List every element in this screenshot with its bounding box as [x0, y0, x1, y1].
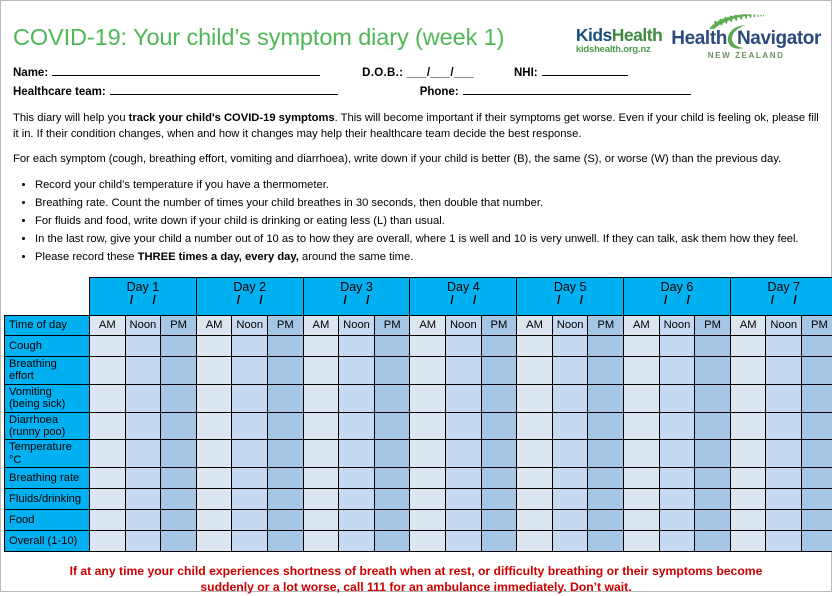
slot-header-am: AM [517, 315, 553, 335]
diary-cell-d6-am-r0[interactable] [624, 335, 660, 356]
diary-cell-d4-pm-r7[interactable] [481, 510, 517, 531]
diary-cell-d7-pm-r4[interactable] [802, 440, 832, 468]
diary-cell-d7-am-r2[interactable] [730, 384, 766, 412]
diary-cell-d6-noon-r0[interactable] [659, 335, 695, 356]
bullet5-pre: Please record these [35, 251, 138, 263]
day-label: Day 3 [304, 280, 410, 294]
list-item: Breathing rate. Count the number of time… [35, 195, 819, 212]
diary-cell-d2-pm-r8[interactable] [268, 531, 304, 552]
table-row: Overall (1-10) [5, 531, 832, 552]
diary-cell-d5-pm-r2[interactable] [588, 384, 624, 412]
day-header-5: Day 5 / / [517, 277, 624, 315]
slot-header-pm: PM [374, 315, 410, 335]
diary-cell-d7-noon-r2[interactable] [766, 384, 802, 412]
diary-cell-d5-noon-r1[interactable] [552, 356, 588, 384]
diary-cell-d2-am-r3[interactable] [196, 412, 232, 440]
diary-cell-d5-pm-r4[interactable] [588, 440, 624, 468]
diary-cell-d6-pm-r7[interactable] [695, 510, 731, 531]
row-label-sub: °C [9, 454, 89, 466]
diary-cell-d7-am-r6[interactable] [730, 489, 766, 510]
diary-cell-d2-noon-r7[interactable] [232, 510, 268, 531]
diary-cell-d7-am-r4[interactable] [730, 440, 766, 468]
diary-cell-d2-pm-r2[interactable] [268, 384, 304, 412]
row-label-4: Temperature°C [5, 440, 90, 468]
diary-cell-d7-pm-r8[interactable] [802, 531, 832, 552]
slot-header-am: AM [303, 315, 339, 335]
intro-paragraph-2: For each symptom (cough, breathing effor… [13, 152, 819, 168]
emergency-warning-line1: If at any time your child experiences sh… [45, 564, 787, 580]
day-date-input[interactable]: / / [731, 294, 832, 307]
row-label-text: Breathing rate [9, 472, 79, 484]
diary-cell-d1-am-r1[interactable] [90, 356, 126, 384]
diary-cell-d4-noon-r6[interactable] [446, 489, 482, 510]
diary-cell-d7-pm-r6[interactable] [802, 489, 832, 510]
day-label: Day 1 [90, 280, 196, 294]
diary-cell-d1-noon-r0[interactable] [125, 335, 161, 356]
list-item: Please record these THREE times a day, e… [35, 249, 819, 266]
diary-cell-d5-noon-r6[interactable] [552, 489, 588, 510]
diary-cell-d3-pm-r6[interactable] [374, 489, 410, 510]
diary-cell-d3-noon-r7[interactable] [339, 510, 375, 531]
diary-cell-d3-pm-r2[interactable] [374, 384, 410, 412]
diary-cell-d4-am-r1[interactable] [410, 356, 446, 384]
diary-cell-d2-am-r5[interactable] [196, 468, 232, 489]
day-header-7: Day 7 / / [730, 277, 832, 315]
row-label-text: Food [9, 514, 35, 526]
diary-cell-d4-am-r3[interactable] [410, 412, 446, 440]
emergency-warning-line2: suddenly or a lot worse, call 111 for an… [45, 580, 787, 596]
diary-cell-d7-noon-r4[interactable] [766, 440, 802, 468]
kidshealth-url: kidshealth.org.nz [576, 45, 662, 55]
name-label: Name: [13, 67, 48, 79]
diary-cell-d1-noon-r4[interactable] [125, 440, 161, 468]
diary-cell-d6-noon-r7[interactable] [659, 510, 695, 531]
diary-cell-d7-am-r7[interactable] [730, 510, 766, 531]
diary-cell-d7-am-r1[interactable] [730, 356, 766, 384]
diary-cell-d3-noon-r6[interactable] [339, 489, 375, 510]
diary-cell-d7-pm-r1[interactable] [802, 356, 832, 384]
diary-cell-d4-noon-r0[interactable] [446, 335, 482, 356]
diary-cell-d7-pm-r3[interactable] [802, 412, 832, 440]
diary-cell-d6-am-r8[interactable] [624, 531, 660, 552]
diary-cell-d1-noon-r7[interactable] [125, 510, 161, 531]
diary-cell-d4-am-r8[interactable] [410, 531, 446, 552]
slot-header-pm: PM [268, 315, 304, 335]
slot-header-am: AM [410, 315, 446, 335]
diary-cell-d1-pm-r2[interactable] [161, 384, 197, 412]
diary-cell-d3-am-r0[interactable] [303, 335, 339, 356]
slot-header-noon: Noon [659, 315, 695, 335]
diary-cell-d3-noon-r1[interactable] [339, 356, 375, 384]
day-header-3: Day 3 / / [303, 277, 410, 315]
diary-cell-d5-pm-r1[interactable] [588, 356, 624, 384]
row-label-text: Vomiting [9, 386, 52, 398]
diary-cell-d5-noon-r4[interactable] [552, 440, 588, 468]
row-label-text: Temperature [9, 441, 72, 453]
diary-cell-d5-am-r0[interactable] [517, 335, 553, 356]
diary-cell-d5-am-r5[interactable] [517, 468, 553, 489]
diary-cell-d3-am-r4[interactable] [303, 440, 339, 468]
list-item: Record your child’s temperature if you h… [35, 177, 819, 194]
diary-cell-d1-noon-r1[interactable] [125, 356, 161, 384]
diary-cell-d2-am-r0[interactable] [196, 335, 232, 356]
diary-cell-d1-noon-r2[interactable] [125, 384, 161, 412]
diary-cell-d5-noon-r5[interactable] [552, 468, 588, 489]
health-navigator-country: NEW ZEALAND [671, 51, 821, 60]
kidshealth-logo-kids: Kids [576, 25, 612, 45]
diary-cell-d4-noon-r4[interactable] [446, 440, 482, 468]
diary-cell-d3-pm-r0[interactable] [374, 335, 410, 356]
diary-cell-d6-pm-r4[interactable] [695, 440, 731, 468]
diary-cell-d3-noon-r3[interactable] [339, 412, 375, 440]
diary-cell-d1-pm-r4[interactable] [161, 440, 197, 468]
diary-cell-d5-noon-r3[interactable] [552, 412, 588, 440]
diary-cell-d3-pm-r5[interactable] [374, 468, 410, 489]
diary-cell-d3-pm-r3[interactable] [374, 412, 410, 440]
symptom-diary-page: COVID-19: Your child’s symptom diary (we… [0, 0, 832, 592]
diary-cell-d1-am-r5[interactable] [90, 468, 126, 489]
table-row: Cough [5, 335, 832, 356]
diary-cell-d4-noon-r8[interactable] [446, 531, 482, 552]
diary-cell-d2-noon-r6[interactable] [232, 489, 268, 510]
diary-cell-d1-am-r3[interactable] [90, 412, 126, 440]
diary-cell-d4-am-r0[interactable] [410, 335, 446, 356]
diary-cell-d1-noon-r5[interactable] [125, 468, 161, 489]
diary-cell-d4-am-r4[interactable] [410, 440, 446, 468]
diary-cell-d2-noon-r8[interactable] [232, 531, 268, 552]
diary-cell-d3-pm-r8[interactable] [374, 531, 410, 552]
diary-cell-d6-noon-r2[interactable] [659, 384, 695, 412]
diary-cell-d7-noon-r8[interactable] [766, 531, 802, 552]
diary-cell-d4-am-r2[interactable] [410, 384, 446, 412]
diary-cell-d6-noon-r5[interactable] [659, 468, 695, 489]
diary-cell-d2-noon-r2[interactable] [232, 384, 268, 412]
diary-cell-d4-pm-r3[interactable] [481, 412, 517, 440]
bullet5-bold: THREE times a day, every day, [138, 251, 299, 263]
diary-cell-d1-noon-r3[interactable] [125, 412, 161, 440]
diary-cell-d7-noon-r5[interactable] [766, 468, 802, 489]
diary-cell-d2-noon-r5[interactable] [232, 468, 268, 489]
diary-cell-d5-am-r4[interactable] [517, 440, 553, 468]
diary-cell-d1-am-r6[interactable] [90, 489, 126, 510]
diary-cell-d5-am-r1[interactable] [517, 356, 553, 384]
bullet5-post: around the same time. [299, 251, 413, 263]
diary-cell-d7-noon-r1[interactable] [766, 356, 802, 384]
diary-cell-d5-noon-r8[interactable] [552, 531, 588, 552]
healthcare-team-label: Healthcare team: [13, 86, 106, 98]
diary-cell-d1-pm-r0[interactable] [161, 335, 197, 356]
diary-cell-d5-pm-r8[interactable] [588, 531, 624, 552]
field-row-team: Healthcare team: Phone: [13, 83, 819, 98]
table-row: Breathingeffort [5, 356, 832, 384]
diary-cell-d5-pm-r3[interactable] [588, 412, 624, 440]
diary-cell-d7-am-r3[interactable] [730, 412, 766, 440]
diary-cell-d6-pm-r2[interactable] [695, 384, 731, 412]
slot-header-noon: Noon [446, 315, 482, 335]
health-navigator-logo: Health Navigator NEW ZEALAND [671, 17, 821, 60]
diary-cell-d5-noon-r2[interactable] [552, 384, 588, 412]
diary-cell-d6-am-r5[interactable] [624, 468, 660, 489]
day-header-2: Day 2 / / [196, 277, 303, 315]
diary-cell-d4-pm-r0[interactable] [481, 335, 517, 356]
diary-cell-d3-am-r8[interactable] [303, 531, 339, 552]
row-label-sub: (runny poo) [9, 426, 89, 438]
slot-header-pm: PM [802, 315, 832, 335]
row-label-5: Breathing rate [5, 468, 90, 489]
diary-cell-d2-pm-r4[interactable] [268, 440, 304, 468]
diary-cell-d5-noon-r7[interactable] [552, 510, 588, 531]
table-row: Diarrhoea(runny poo) [5, 412, 832, 440]
slot-header-noon: Noon [232, 315, 268, 335]
slot-header-pm: PM [695, 315, 731, 335]
diary-cell-d4-noon-r2[interactable] [446, 384, 482, 412]
diary-cell-d6-am-r3[interactable] [624, 412, 660, 440]
diary-cell-d6-pm-r3[interactable] [695, 412, 731, 440]
dob-input[interactable]: ___/___/___ [407, 67, 474, 79]
list-item: For fluids and food, write down if your … [35, 213, 819, 230]
diary-cell-d1-pm-r1[interactable] [161, 356, 197, 384]
diary-cell-d4-noon-r1[interactable] [446, 356, 482, 384]
diary-cell-d3-am-r5[interactable] [303, 468, 339, 489]
row-label-8: Overall (1-10) [5, 531, 90, 552]
kidshealth-logo-health: Health [612, 25, 662, 45]
diary-cell-d2-am-r2[interactable] [196, 384, 232, 412]
diary-cell-d4-pm-r4[interactable] [481, 440, 517, 468]
diary-cell-d3-noon-r5[interactable] [339, 468, 375, 489]
slot-header-am: AM [90, 315, 126, 335]
diary-cell-d1-pm-r3[interactable] [161, 412, 197, 440]
diary-cell-d1-am-r8[interactable] [90, 531, 126, 552]
slot-header-pm: PM [161, 315, 197, 335]
diary-cell-d7-am-r5[interactable] [730, 468, 766, 489]
day-header-6: Day 6 / / [624, 277, 731, 315]
diary-cell-d7-pm-r2[interactable] [802, 384, 832, 412]
table-header-slots: Time of day AM Noon PM AM Noon PM AM Noo… [5, 315, 832, 335]
diary-cell-d4-pm-r5[interactable] [481, 468, 517, 489]
row-label-6: Fluids/drinking [5, 489, 90, 510]
intro-paragraph-1: This diary will help you track your chil… [13, 111, 819, 143]
dob-group: D.O.B.: ___/___/___ [362, 67, 474, 79]
diary-cell-d1-am-r7[interactable] [90, 510, 126, 531]
slot-header-pm: PM [588, 315, 624, 335]
emergency-warning: If at any time your child experiences sh… [1, 552, 831, 596]
diary-cell-d5-pm-r5[interactable] [588, 468, 624, 489]
diary-cell-d4-pm-r6[interactable] [481, 489, 517, 510]
page-header: COVID-19: Your child’s symptom diary (we… [1, 1, 831, 59]
diary-cell-d7-am-r0[interactable] [730, 335, 766, 356]
slot-header-am: AM [196, 315, 232, 335]
diary-cell-d3-pm-r1[interactable] [374, 356, 410, 384]
diary-cell-d1-pm-r5[interactable] [161, 468, 197, 489]
row-label-text: Overall (1-10) [9, 535, 77, 547]
table-row: Temperature°C [5, 440, 832, 468]
diary-cell-d4-noon-r7[interactable] [446, 510, 482, 531]
diary-cell-d7-pm-r5[interactable] [802, 468, 832, 489]
intro-text: This diary will help you track your chil… [1, 102, 831, 168]
time-of-day-label: Time of day [5, 315, 90, 335]
diary-cell-d2-am-r4[interactable] [196, 440, 232, 468]
diary-cell-d2-noon-r4[interactable] [232, 440, 268, 468]
day-date-input[interactable]: / / [410, 294, 516, 307]
diary-cell-d5-pm-r0[interactable] [588, 335, 624, 356]
diary-cell-d5-pm-r7[interactable] [588, 510, 624, 531]
day-header-4: Day 4 / / [410, 277, 517, 315]
patient-fields: Name: D.O.B.: ___/___/___ NHI: Healthcar… [1, 59, 831, 98]
diary-cell-d3-noon-r0[interactable] [339, 335, 375, 356]
diary-cell-d2-noon-r0[interactable] [232, 335, 268, 356]
row-label-1: Breathingeffort [5, 356, 90, 384]
diary-cell-d4-noon-r3[interactable] [446, 412, 482, 440]
diary-cell-d1-noon-r6[interactable] [125, 489, 161, 510]
diary-cell-d6-am-r1[interactable] [624, 356, 660, 384]
diary-cell-d4-pm-r8[interactable] [481, 531, 517, 552]
kidshealth-logo: KidsHealth kidshealth.org.nz [576, 17, 662, 55]
diary-cell-d2-pm-r0[interactable] [268, 335, 304, 356]
day-date-input[interactable]: / / [197, 294, 303, 307]
diary-cell-d1-pm-r6[interactable] [161, 489, 197, 510]
diary-cell-d4-am-r7[interactable] [410, 510, 446, 531]
diary-cell-d6-pm-r5[interactable] [695, 468, 731, 489]
diary-cell-d7-noon-r3[interactable] [766, 412, 802, 440]
diary-cell-d3-noon-r2[interactable] [339, 384, 375, 412]
diary-cell-d1-am-r4[interactable] [90, 440, 126, 468]
phone-input[interactable] [463, 83, 691, 95]
diary-cell-d2-am-r7[interactable] [196, 510, 232, 531]
day-date-input[interactable]: / / [304, 294, 410, 307]
day-label: Day 5 [517, 280, 623, 294]
diary-cell-d3-am-r3[interactable] [303, 412, 339, 440]
day-date-input[interactable]: / / [624, 294, 730, 307]
nhi-input[interactable] [542, 64, 628, 76]
diary-cell-d4-pm-r2[interactable] [481, 384, 517, 412]
diary-cell-d1-noon-r8[interactable] [125, 531, 161, 552]
diary-cell-d5-am-r2[interactable] [517, 384, 553, 412]
diary-cell-d3-am-r2[interactable] [303, 384, 339, 412]
diary-cell-d6-noon-r3[interactable] [659, 412, 695, 440]
slot-header-noon: Noon [766, 315, 802, 335]
diary-cell-d4-am-r5[interactable] [410, 468, 446, 489]
diary-table-body: CoughBreathingeffortVomiting(being sick)… [5, 335, 832, 551]
diary-cell-d3-pm-r7[interactable] [374, 510, 410, 531]
day-header-1: Day 1 / / [90, 277, 197, 315]
diary-cell-d6-am-r7[interactable] [624, 510, 660, 531]
diary-cell-d2-am-r1[interactable] [196, 356, 232, 384]
diary-cell-d6-am-r6[interactable] [624, 489, 660, 510]
row-label-7: Food [5, 510, 90, 531]
diary-cell-d5-pm-r6[interactable] [588, 489, 624, 510]
slot-header-am: AM [730, 315, 766, 335]
row-label-text: Breathing [9, 358, 57, 370]
diary-cell-d3-noon-r8[interactable] [339, 531, 375, 552]
healthcare-team-input[interactable] [110, 83, 338, 95]
diary-cell-d3-pm-r4[interactable] [374, 440, 410, 468]
day-label: Day 4 [410, 280, 516, 294]
diary-cell-d4-pm-r1[interactable] [481, 356, 517, 384]
row-label-text: Fluids/drinking [9, 493, 81, 505]
diary-cell-d6-pm-r1[interactable] [695, 356, 731, 384]
diary-cell-d7-pm-r7[interactable] [802, 510, 832, 531]
diary-cell-d1-am-r0[interactable] [90, 335, 126, 356]
diary-cell-d5-am-r8[interactable] [517, 531, 553, 552]
table-row: Breathing rate [5, 468, 832, 489]
diary-cell-d2-am-r8[interactable] [196, 531, 232, 552]
diary-cell-d1-pm-r7[interactable] [161, 510, 197, 531]
day-label: Day 7 [731, 280, 832, 294]
diary-cell-d3-am-r7[interactable] [303, 510, 339, 531]
table-row: Vomiting(being sick) [5, 384, 832, 412]
diary-cell-d4-noon-r5[interactable] [446, 468, 482, 489]
day-date-input[interactable]: / / [90, 294, 196, 307]
diary-cell-d6-pm-r0[interactable] [695, 335, 731, 356]
row-label-sub: (being sick) [9, 398, 89, 410]
diary-cell-d1-am-r2[interactable] [90, 384, 126, 412]
nhi-label: NHI: [514, 67, 538, 79]
diary-cell-d5-noon-r0[interactable] [552, 335, 588, 356]
diary-cell-d3-noon-r4[interactable] [339, 440, 375, 468]
row-label-sub: effort [9, 370, 89, 382]
diary-table-wrap: Day 1 / / Day 2 / / Day 3 / / Day 4 / / [1, 267, 831, 552]
diary-cell-d2-pm-r6[interactable] [268, 489, 304, 510]
list-item: In the last row, give your child a numbe… [35, 231, 819, 248]
diary-cell-d4-am-r6[interactable] [410, 489, 446, 510]
diary-cell-d6-noon-r8[interactable] [659, 531, 695, 552]
diary-cell-d5-am-r6[interactable] [517, 489, 553, 510]
diary-cell-d6-am-r4[interactable] [624, 440, 660, 468]
diary-cell-d1-pm-r8[interactable] [161, 531, 197, 552]
dob-label: D.O.B.: [362, 67, 403, 79]
day-label: Day 2 [197, 280, 303, 294]
diary-cell-d5-am-r7[interactable] [517, 510, 553, 531]
instruction-list: Record your child’s temperature if you h… [1, 177, 831, 266]
table-row: Fluids/drinking [5, 489, 832, 510]
diary-cell-d6-am-r2[interactable] [624, 384, 660, 412]
day-date-input[interactable]: / / [517, 294, 623, 307]
diary-cell-d7-noon-r6[interactable] [766, 489, 802, 510]
diary-cell-d2-noon-r3[interactable] [232, 412, 268, 440]
diary-cell-d7-pm-r0[interactable] [802, 335, 832, 356]
diary-cell-d2-pm-r7[interactable] [268, 510, 304, 531]
diary-cell-d6-noon-r4[interactable] [659, 440, 695, 468]
diary-cell-d3-am-r6[interactable] [303, 489, 339, 510]
row-label-0: Cough [5, 335, 90, 356]
intro-p1-bold: track your child's COVID-19 symptoms [129, 112, 335, 124]
diary-cell-d6-noon-r1[interactable] [659, 356, 695, 384]
diary-cell-d2-pm-r3[interactable] [268, 412, 304, 440]
diary-cell-d7-noon-r7[interactable] [766, 510, 802, 531]
row-label-text: Cough [9, 340, 42, 352]
slot-header-am: AM [624, 315, 660, 335]
name-input[interactable] [52, 64, 320, 76]
diary-cell-d3-am-r1[interactable] [303, 356, 339, 384]
row-label-text: Diarrhoea [9, 414, 58, 426]
header-spacer [5, 277, 90, 315]
diary-cell-d2-noon-r1[interactable] [232, 356, 268, 384]
row-label-3: Diarrhoea(runny poo) [5, 412, 90, 440]
diary-cell-d5-am-r3[interactable] [517, 412, 553, 440]
diary-cell-d2-pm-r1[interactable] [268, 356, 304, 384]
diary-cell-d7-noon-r0[interactable] [766, 335, 802, 356]
field-row-name: Name: D.O.B.: ___/___/___ NHI: [13, 64, 819, 79]
diary-cell-d2-am-r6[interactable] [196, 489, 232, 510]
diary-cell-d6-pm-r6[interactable] [695, 489, 731, 510]
diary-cell-d7-am-r8[interactable] [730, 531, 766, 552]
health-navigator-word-navigator: Navigator [737, 28, 821, 49]
phone-label: Phone: [420, 86, 459, 98]
diary-cell-d6-noon-r6[interactable] [659, 489, 695, 510]
diary-cell-d2-pm-r5[interactable] [268, 468, 304, 489]
day-label: Day 6 [624, 280, 730, 294]
diary-cell-d6-pm-r8[interactable] [695, 531, 731, 552]
